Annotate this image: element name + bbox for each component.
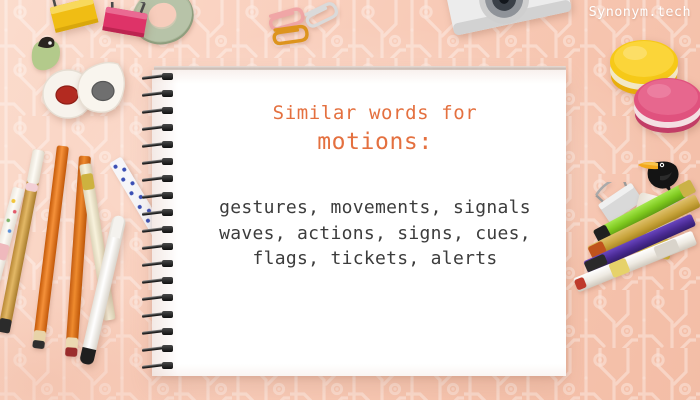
macaron-pink [628,70,700,136]
synonym-line: flags, tickets, alerts [188,246,562,272]
desk-scene: Similar words for motions: gestures, mov… [0,0,700,400]
camera-white [438,0,578,42]
paper-clip-silver [300,2,342,28]
eraser-grey-dot [72,58,130,118]
synonym-line: gestures, movements, signals [188,195,562,221]
heading-prefix: Similar words for [188,101,562,125]
synonym-line: waves, actions, signs, cues, [188,221,562,247]
synonym-list: gestures, movements, signalswaves, actio… [188,195,562,272]
query-word: motions: [188,128,562,157]
site-watermark: Synonym.tech [589,3,691,21]
binder-clip-pink [96,2,154,42]
page-content: Similar words for motions: gestures, mov… [188,70,562,272]
